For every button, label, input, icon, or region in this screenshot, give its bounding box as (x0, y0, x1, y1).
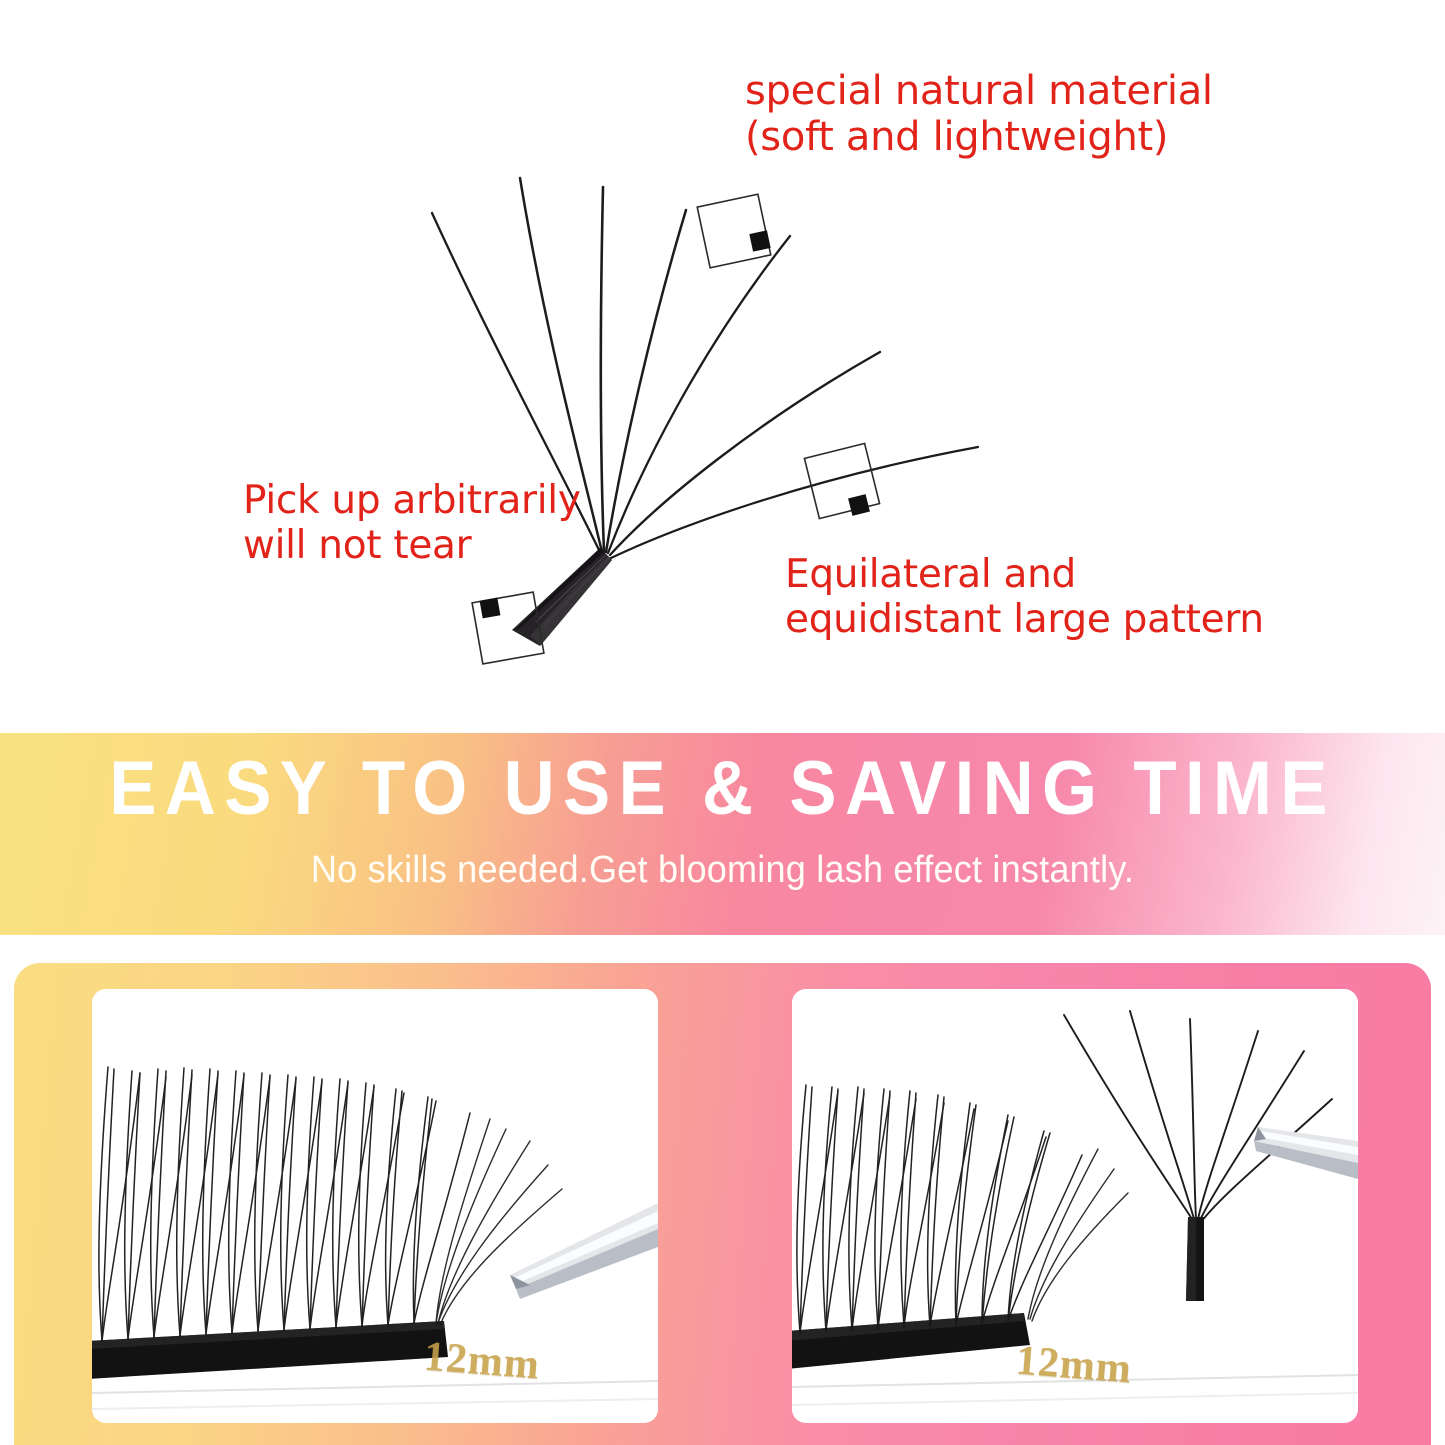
banner-subtitle: No skills needed.Get blooming lash effec… (36, 851, 1409, 889)
easy-to-use-banner: EASY TO USE & SAVING TIME No skills need… (0, 733, 1445, 935)
callout-material: special natural material (soft and light… (745, 68, 1215, 161)
tray-size-label-right: 12mm (1014, 1337, 1133, 1394)
photo-card-fan-pickup: 12mm (792, 989, 1358, 1423)
tray-size-label-left: 12mm (422, 1333, 541, 1390)
tray-closeup-image (92, 989, 658, 1423)
marker-upper (697, 194, 771, 268)
product-photo-panel: 12mm (14, 963, 1431, 1445)
banner-title: EASY TO USE & SAVING TIME (51, 751, 1395, 827)
top-diagram-section: special natural material (soft and light… (0, 0, 1445, 733)
callout-pattern: Equilateral and equidistant large patter… (785, 552, 1265, 642)
marker-lower (804, 443, 879, 518)
photo-card-tray-closeup: 12mm (92, 989, 658, 1423)
callout-durability: Pick up arbitrarily will not tear (243, 478, 623, 568)
